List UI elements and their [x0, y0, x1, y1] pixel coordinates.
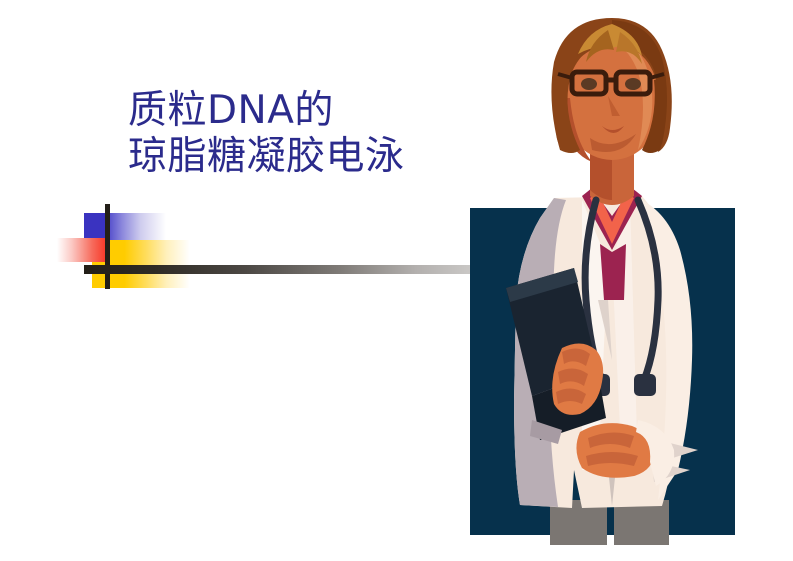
- eye-left: [581, 78, 597, 90]
- title-line-2: 琼脂糖凝胶电泳: [128, 134, 488, 180]
- motif-yellow-gradient: [106, 240, 190, 288]
- eye-right: [625, 78, 641, 90]
- clipart-doctor-image: [462, 0, 793, 545]
- title-line-1: 质粒DNA的: [128, 88, 488, 134]
- slide-canvas: 质粒DNA的 琼脂糖凝胶电泳: [0, 0, 793, 561]
- doctor-illustration: [462, 0, 793, 545]
- motif-blue-gradient: [106, 213, 166, 240]
- motif-horizontal-bar: [84, 265, 470, 274]
- motif-red-gradient: [57, 238, 106, 262]
- motif-blue-square: [84, 213, 106, 240]
- motif-vertical-bar: [105, 204, 110, 289]
- motif-yellow-tab: [92, 262, 106, 288]
- page-title: 质粒DNA的 琼脂糖凝胶电泳: [128, 88, 488, 180]
- scrubs-chest: [600, 244, 626, 300]
- stethoscope-ear-right: [634, 374, 656, 396]
